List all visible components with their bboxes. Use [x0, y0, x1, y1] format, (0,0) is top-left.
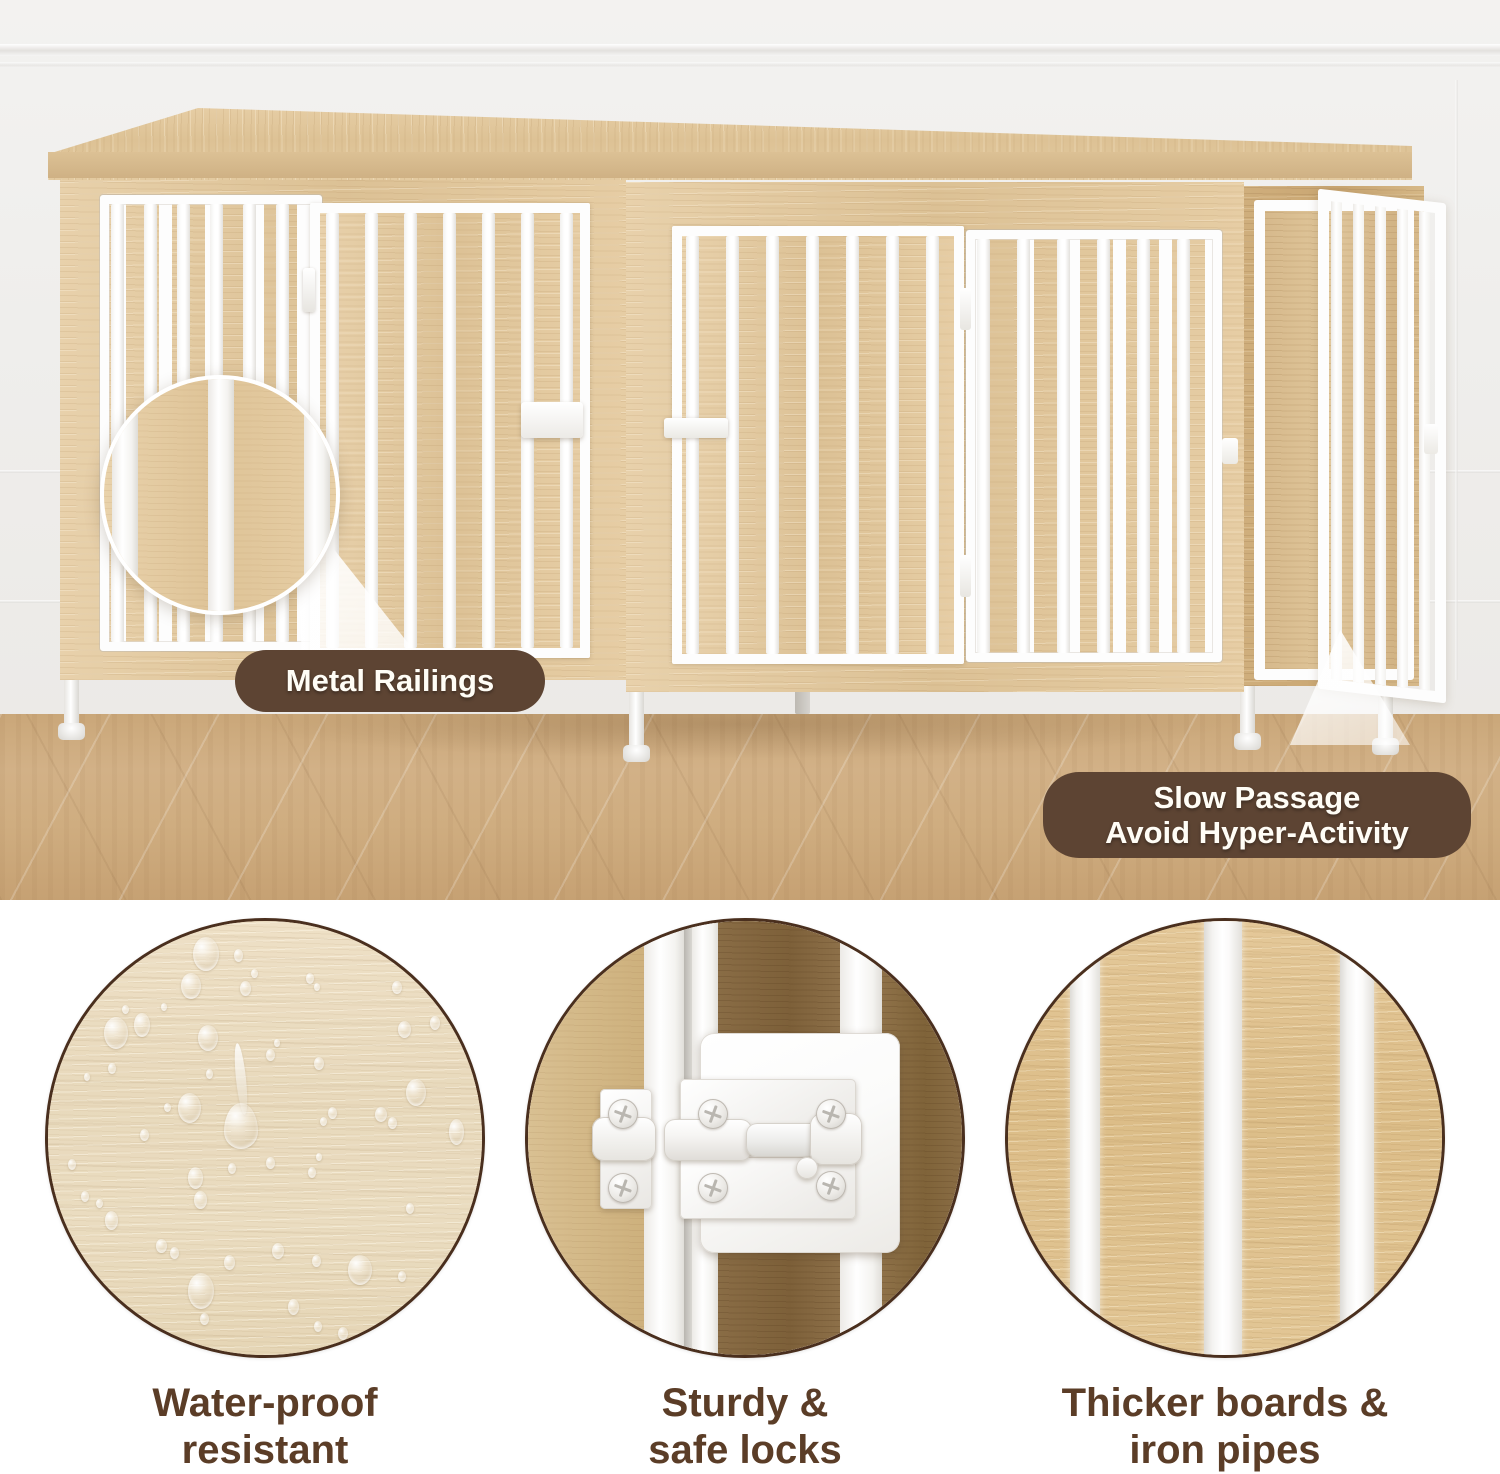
water-drop	[228, 1163, 236, 1174]
feature-safe-locks: Sturdy & safe locks	[510, 918, 980, 1474]
caption-line-1: Thicker boards &	[1062, 1380, 1389, 1427]
feature-thicker-boards: Thicker boards & iron pipes	[990, 918, 1460, 1474]
iron-pipe	[1070, 918, 1100, 1358]
water-drop	[392, 981, 402, 994]
water-drop	[240, 981, 251, 996]
bolt-stop-pin	[796, 1157, 818, 1179]
hero-product-photo: Metal Railings Slow Passage Avoid Hyper-…	[0, 0, 1500, 900]
water-drop	[320, 1117, 327, 1126]
water-drop	[181, 973, 201, 999]
water-drop	[140, 1129, 149, 1141]
water-drop	[288, 1299, 299, 1315]
caption-line-2: resistant	[152, 1427, 377, 1474]
barrel-bolt-lock-circle	[525, 918, 965, 1358]
right-door-bars	[682, 236, 954, 654]
water-drop	[449, 1119, 464, 1145]
badge-slow-passage	[1043, 772, 1471, 858]
crate-top-edge	[48, 152, 1412, 178]
dog-crate-furniture	[0, 0, 1500, 900]
badge-metal-railings: Metal Railings	[235, 650, 545, 712]
caption-line-2: iron pipes	[1062, 1427, 1389, 1474]
lock-screw	[608, 1099, 638, 1129]
right-door-hinge-upper	[960, 288, 971, 330]
water-drop	[251, 969, 258, 978]
water-drop	[161, 1003, 167, 1011]
water-drop	[170, 1247, 179, 1259]
water-drop	[224, 1255, 235, 1270]
lock-screw	[816, 1099, 846, 1129]
water-drop	[134, 1013, 150, 1037]
iron-pipe	[1204, 918, 1242, 1358]
water-drop	[312, 1255, 321, 1267]
water-drop	[84, 1073, 90, 1081]
badge-metal-railings-label: Metal Railings	[286, 664, 494, 699]
lock-screw	[698, 1173, 728, 1203]
railing-zoom-circle	[100, 375, 340, 615]
water-drop	[314, 1321, 322, 1332]
right-door-hinge-lower	[960, 555, 971, 597]
water-drop	[164, 1103, 171, 1112]
water-drop	[314, 983, 320, 991]
infographic-page: Metal Railings Slow Passage Avoid Hyper-…	[0, 0, 1500, 1474]
lock-screw	[816, 1171, 846, 1201]
lock-screw	[608, 1173, 638, 1203]
water-drop	[406, 1203, 414, 1214]
lock-screw	[698, 1099, 728, 1129]
water-drop	[328, 1107, 337, 1119]
water-drop	[234, 949, 243, 962]
right-door-latch[interactable]	[664, 418, 728, 438]
water-drop	[96, 1199, 103, 1208]
water-drop	[398, 1271, 406, 1282]
water-drop	[266, 1157, 275, 1169]
water-drop	[338, 1327, 348, 1340]
left-door-hinge-upper	[303, 268, 315, 312]
water-drop	[272, 1243, 284, 1259]
water-drop	[398, 1021, 411, 1038]
light-wood-surface	[48, 921, 482, 1355]
water-drop	[108, 1063, 116, 1074]
water-drop	[308, 1167, 316, 1178]
water-drop	[188, 1273, 214, 1309]
water-drop	[306, 973, 314, 984]
feature-water-proof: Water-proof resistant	[30, 918, 500, 1474]
caption-line-1: Sturdy &	[648, 1380, 841, 1427]
water-drop	[430, 1016, 440, 1030]
water-drop	[156, 1239, 167, 1253]
water-drop	[81, 1191, 89, 1202]
pipes-scene	[1008, 921, 1442, 1355]
water-drop	[104, 1017, 128, 1049]
water-drop	[348, 1255, 372, 1285]
water-drop	[193, 937, 219, 971]
feature-water-proof-caption: Water-proof resistant	[152, 1380, 377, 1474]
water-drop	[178, 1093, 201, 1123]
water-drop	[375, 1107, 387, 1122]
iron-pipes-circle	[1005, 918, 1445, 1358]
water-drop	[406, 1079, 426, 1106]
iron-pipe	[1340, 918, 1374, 1358]
water-drop	[105, 1211, 118, 1230]
left-door-latch[interactable]	[521, 402, 583, 438]
water-drop	[206, 1069, 213, 1079]
water-drop	[188, 1167, 203, 1189]
water-drop	[388, 1117, 397, 1129]
water-drop	[274, 1039, 280, 1047]
water-drop	[316, 1153, 322, 1161]
caption-line-1: Water-proof	[152, 1380, 377, 1427]
water-drop	[314, 1057, 324, 1070]
feature-row: Water-proof resistant	[0, 900, 1500, 1474]
water-drop	[194, 1191, 207, 1209]
water-drop	[200, 1313, 209, 1325]
water-droplets-circle	[45, 918, 485, 1358]
right-fixed-rail-panel	[966, 230, 1222, 662]
feature-safe-locks-caption: Sturdy & safe locks	[648, 1380, 841, 1474]
crate-foot-front-right	[1234, 733, 1261, 750]
water-drop	[266, 1049, 275, 1061]
water-drop	[122, 1005, 129, 1014]
caption-line-2: safe locks	[648, 1427, 841, 1474]
end-door-catch	[1222, 438, 1238, 464]
water-drop	[68, 1159, 76, 1170]
crate-foot-front-left	[58, 723, 85, 740]
open-door-handle[interactable]	[1424, 424, 1438, 454]
lock-scene	[528, 921, 962, 1355]
feature-thicker-boards-caption: Thicker boards & iron pipes	[1062, 1380, 1389, 1474]
crate-foot-front-mid	[623, 745, 650, 762]
right-compartment-door[interactable]	[672, 226, 964, 664]
water-drop	[198, 1025, 218, 1051]
